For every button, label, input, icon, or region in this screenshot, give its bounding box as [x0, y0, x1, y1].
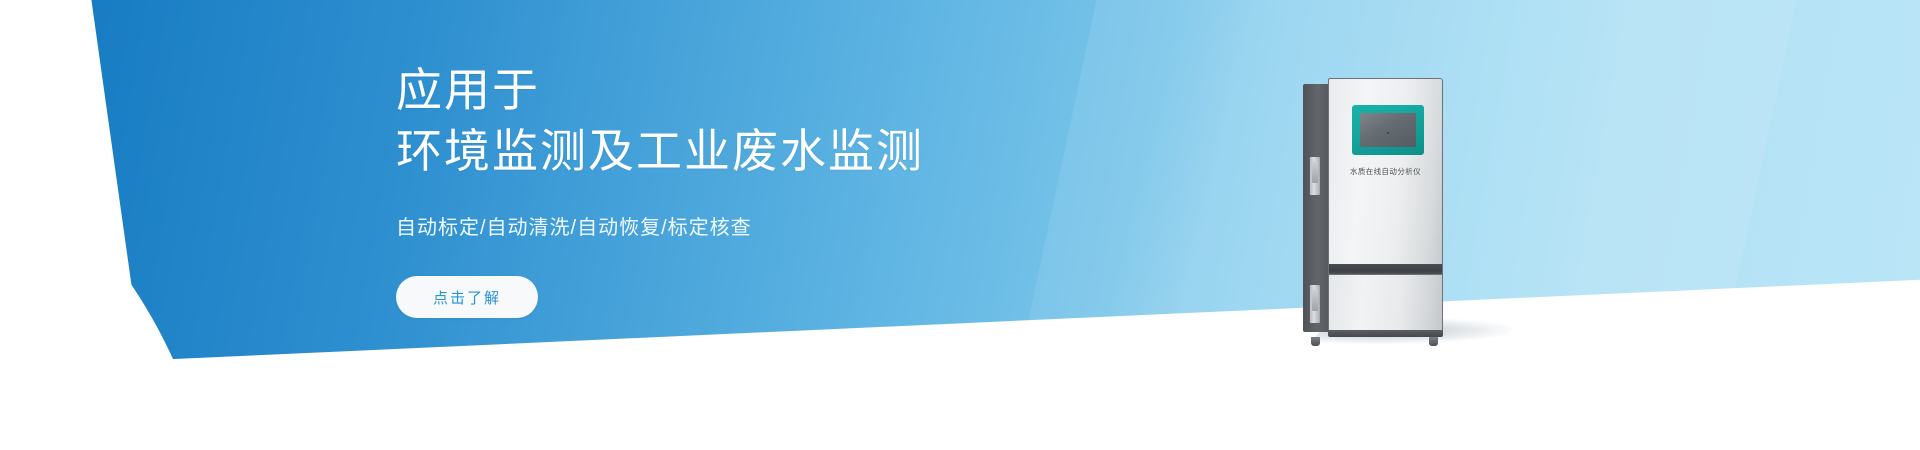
cabinet-handle-upper — [1309, 156, 1321, 196]
promo-banner: 应用于 环境监测及工业废水监测 自动标定/自动清洗/自动恢复/标定核查 点击了解… — [0, 0, 1920, 450]
screen-indicator-dot — [1387, 132, 1389, 134]
headline-line-1: 应用于 — [396, 60, 1096, 121]
headline-line-2: 环境监测及工业废水监测 — [396, 121, 1096, 182]
display-bezel — [1352, 105, 1424, 155]
banner-content: 应用于 环境监测及工业废水监测 自动标定/自动清洗/自动恢复/标定核查 点击了解 — [396, 60, 1096, 318]
water-quality-analyzer-cabinet: 水质在线自动分析仪 — [1303, 78, 1463, 338]
product-image: 水质在线自动分析仪 — [1303, 78, 1463, 338]
display-screen — [1360, 113, 1416, 147]
product-label: 水质在线自动分析仪 — [1328, 166, 1443, 177]
cabinet-base-skirt — [1328, 330, 1443, 337]
learn-more-button[interactable]: 点击了解 — [396, 276, 538, 318]
banner-headline: 应用于 环境监测及工业废水监测 — [396, 60, 1096, 181]
caster-right — [1429, 337, 1438, 346]
banner-subtitle: 自动标定/自动清洗/自动恢复/标定核查 — [396, 211, 1096, 240]
cabinet-handle-lower — [1309, 284, 1321, 324]
caster-left — [1311, 337, 1320, 346]
cabinet-lower-door — [1328, 274, 1443, 336]
